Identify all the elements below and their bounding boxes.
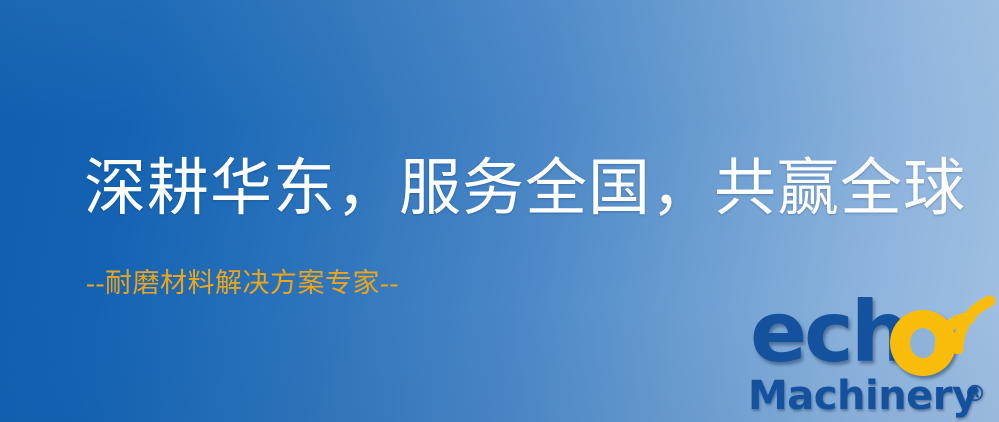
company-logo[interactable]: ech Machinery ® bbox=[748, 296, 996, 422]
signal-waves-icon bbox=[934, 292, 998, 354]
page-title: 深耕华东，服务全国，共赢全球 bbox=[84, 152, 934, 226]
logo-wordmark: ech bbox=[748, 296, 996, 378]
logo-machinery-text: Machinery bbox=[748, 374, 978, 418]
page-subtitle: --耐磨材料解决方案专家-- bbox=[86, 266, 399, 300]
logo-echo-text: ech bbox=[750, 290, 908, 374]
hero-banner: 深耕华东，服务全国，共赢全球 --耐磨材料解决方案专家-- ech Machin… bbox=[0, 0, 999, 422]
registered-trademark-icon: ® bbox=[964, 384, 986, 406]
